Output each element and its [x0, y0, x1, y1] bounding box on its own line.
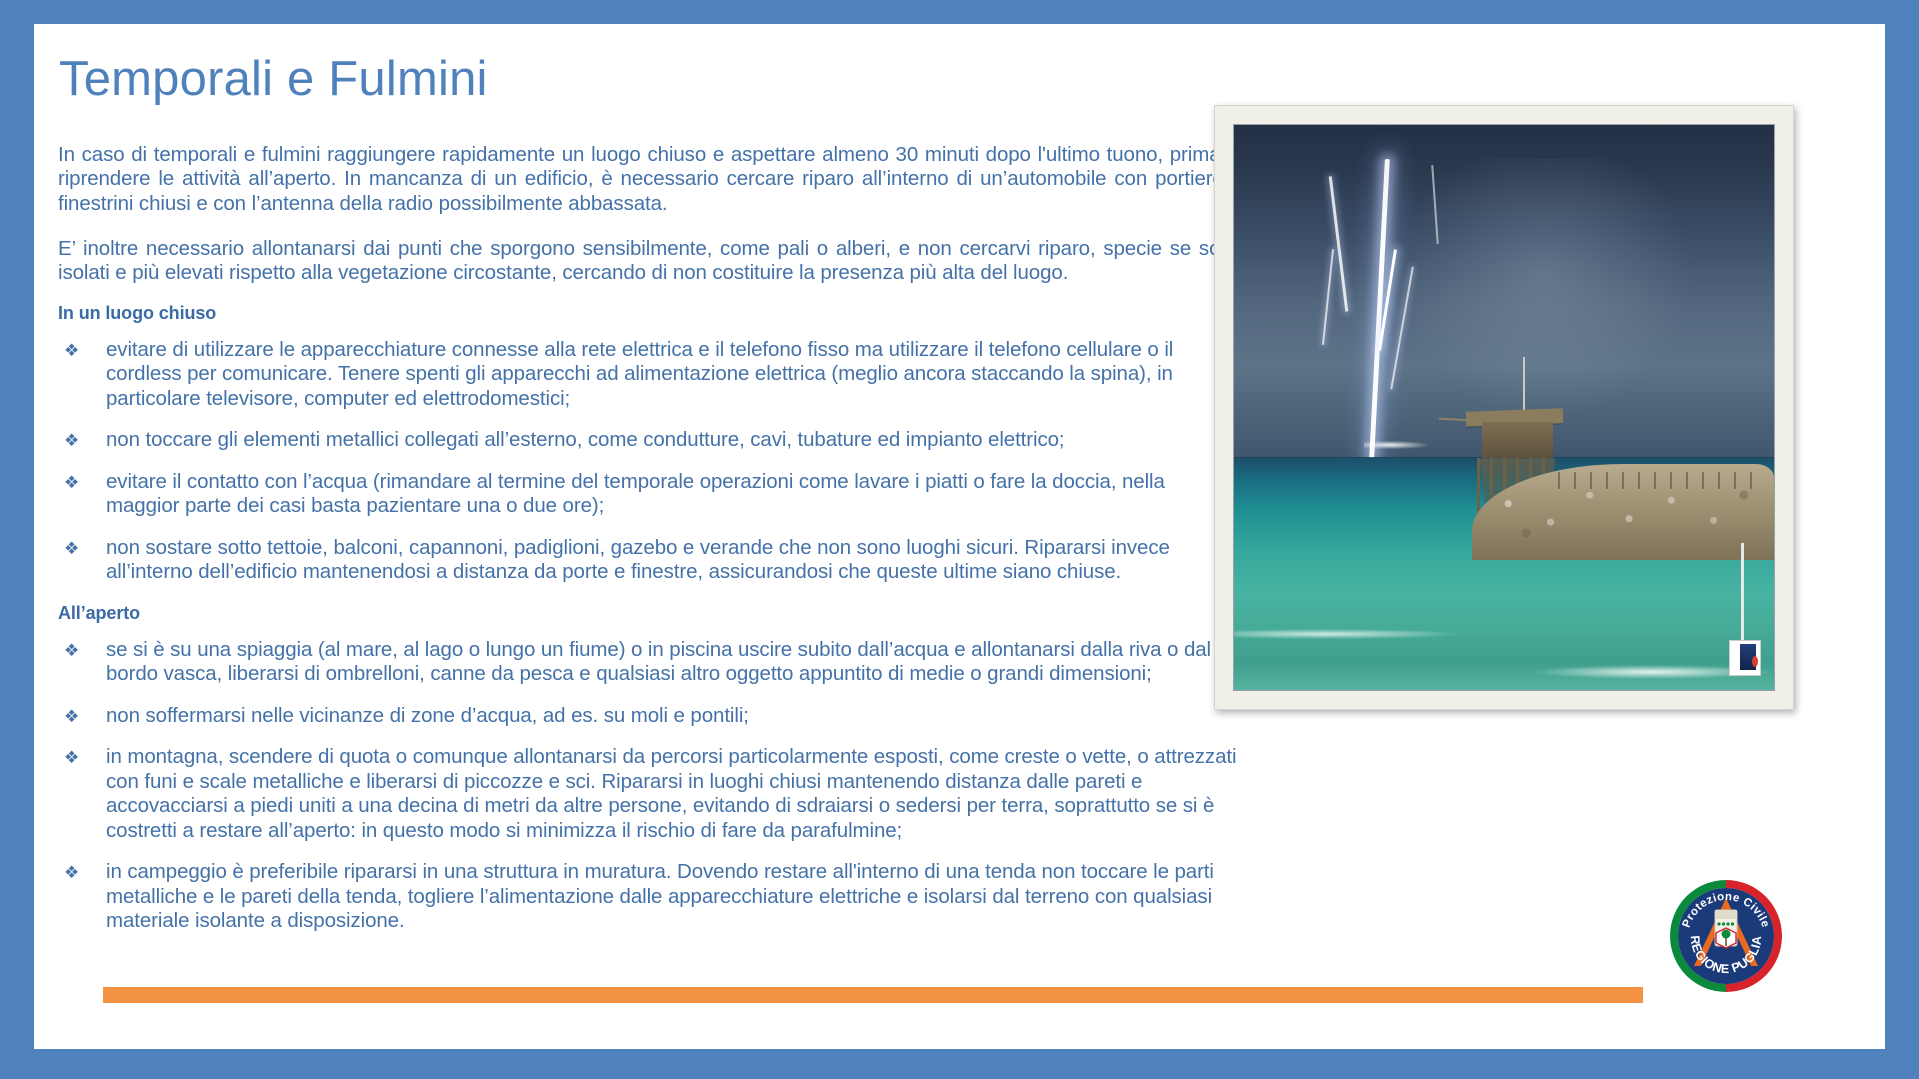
list-item-text: se si è su una spiaggia (al mare, al lag…: [106, 638, 1211, 686]
diamond-bullet-icon: ❖: [64, 639, 79, 663]
bullet-list-indoor: ❖ evitare di utilizzare le apparecchiatu…: [58, 338, 1243, 585]
jetty-posts: [1558, 472, 1752, 489]
section-heading-outdoor: All’aperto: [58, 602, 1243, 624]
section-heading-indoor: In un luogo chiuso: [58, 302, 1243, 324]
bullet-list-outdoor: ❖ se si è su una spiaggia (al mare, al l…: [58, 638, 1243, 934]
lightning-flash-glow: [1364, 441, 1429, 449]
list-item: ❖ evitare di utilizzare le apparecchiatu…: [58, 338, 1243, 412]
list-item-text: in campeggio è preferibile ripararsi in …: [106, 860, 1214, 932]
list-item-text: evitare il contatto con l’acqua (rimanda…: [106, 470, 1165, 518]
list-item: ❖ se si è su una spiaggia (al mare, al l…: [58, 638, 1243, 687]
list-item: ❖ in montagna, scendere di quota o comun…: [58, 745, 1243, 843]
list-item-text: evitare di utilizzare le apparecchiature…: [106, 338, 1173, 410]
list-item-text: non toccare gli elementi metallici colle…: [106, 428, 1065, 451]
list-item-text: non soffermarsi nelle vicinanze di zone …: [106, 704, 749, 727]
intro-paragraph-2: E’ inoltre necessario allontanarsi dai p…: [58, 237, 1243, 286]
list-item: ❖ in campeggio è preferibile ripararsi i…: [58, 860, 1243, 934]
diamond-bullet-icon: ❖: [64, 861, 79, 885]
protezione-civile-logo: Protezione Civile REGIONE PUGLIA: [1666, 876, 1786, 996]
diamond-bullet-icon: ❖: [64, 746, 79, 770]
pier-hut-body: [1482, 422, 1552, 459]
body-text-column: In caso di temporali e fulmini raggiunge…: [58, 122, 1243, 951]
pier-mast: [1523, 357, 1525, 414]
diamond-bullet-icon: ❖: [64, 471, 79, 495]
diamond-bullet-icon: ❖: [64, 429, 79, 453]
list-item-text: in montagna, scendere di quota o comunqu…: [106, 745, 1236, 842]
photo-frame: [1214, 105, 1794, 710]
list-item: ❖ non sostare sotto tettoie, balconi, ca…: [58, 536, 1243, 585]
intro-paragraph-1: In caso di temporali e fulmini raggiunge…: [58, 143, 1243, 217]
sea-foam: [1234, 629, 1461, 639]
list-item: ❖ evitare il contatto con l’acqua (riman…: [58, 470, 1243, 519]
slide-content-area: Temporali e Fulmini In caso di temporali…: [34, 24, 1885, 1049]
orange-divider-rule: [103, 987, 1643, 1003]
list-item: ❖ non soffermarsi nelle vicinanze di zon…: [58, 704, 1243, 729]
lightning-photo: [1233, 124, 1775, 691]
diamond-bullet-icon: ❖: [64, 339, 79, 363]
list-item-text: non sostare sotto tettoie, balconi, capa…: [106, 536, 1170, 584]
diamond-bullet-icon: ❖: [64, 705, 79, 729]
list-item: ❖ non toccare gli elementi metallici col…: [58, 428, 1243, 453]
page-title: Temporali e Fulmini: [59, 50, 488, 108]
diamond-bullet-icon: ❖: [64, 537, 79, 561]
slide-root: Temporali e Fulmini In caso di temporali…: [0, 0, 1919, 1079]
photo-sky-haze: [1396, 159, 1693, 419]
